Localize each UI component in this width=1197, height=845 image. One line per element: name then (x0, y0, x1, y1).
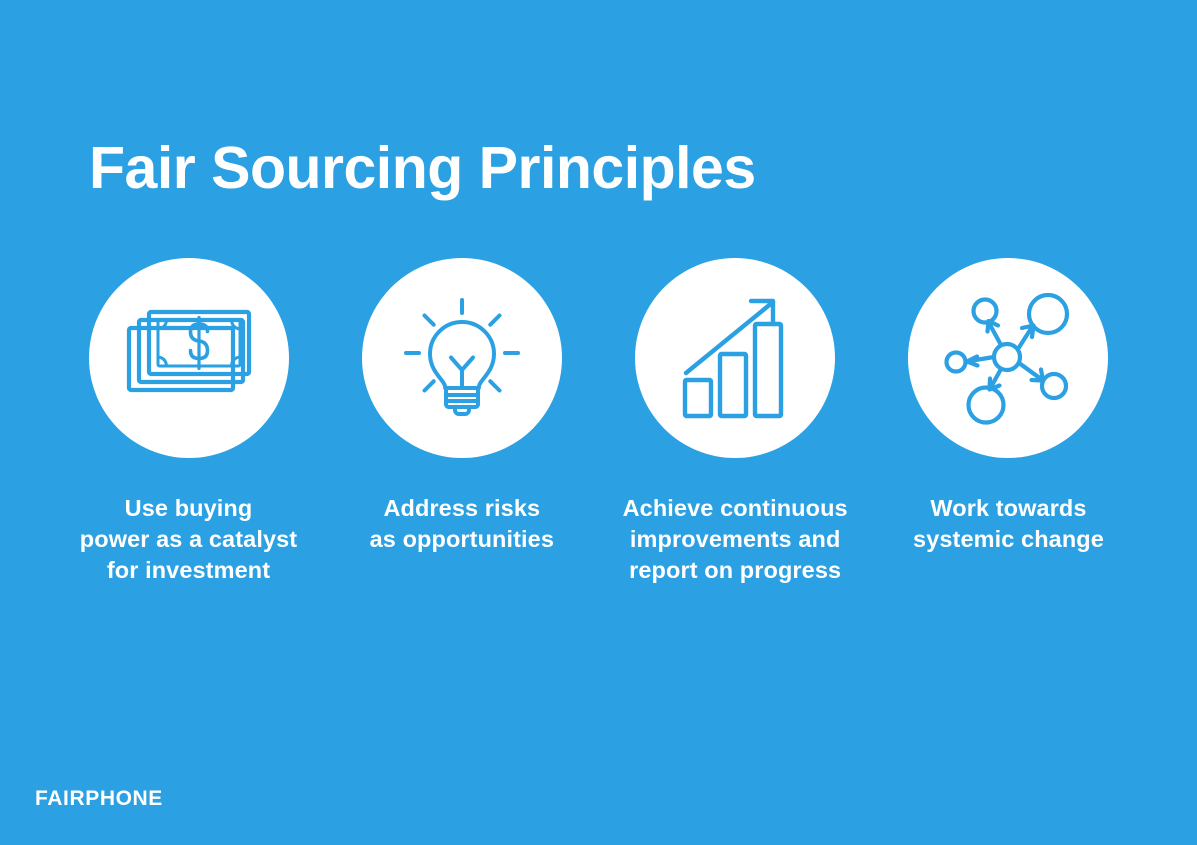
caption-line: Achieve continuous (623, 493, 848, 524)
caption-line: as opportunities (370, 524, 554, 555)
principle-caption-buying-power: Use buying power as a catalyst for inves… (80, 493, 297, 586)
principle-caption-continuous-improvement: Achieve continuous improvements and repo… (623, 493, 848, 586)
icon-circle-continuous-improvement (635, 258, 835, 458)
caption-line: Work towards (913, 493, 1104, 524)
icon-circle-address-risks (362, 258, 562, 458)
caption-line: power as a catalyst (80, 524, 297, 555)
caption-line: Address risks (370, 493, 554, 524)
brand-logo-fairphone: FAIRPHONE (35, 787, 163, 811)
caption-line: for investment (80, 555, 297, 586)
network-nodes-icon (944, 291, 1072, 425)
principle-item-continuous-improvement: Achieve continuous improvements and repo… (599, 258, 872, 586)
slide-canvas: Fair Sourcing Principles (0, 0, 1197, 845)
principles-row: Use buying power as a catalyst for inves… (52, 258, 1145, 586)
caption-line: Use buying (80, 493, 297, 524)
icon-circle-buying-power (89, 258, 289, 458)
caption-line: systemic change (913, 524, 1104, 555)
principle-caption-systemic-change: Work towards systemic change (913, 493, 1104, 555)
growth-bar-chart-icon (681, 296, 789, 420)
icon-circle-systemic-change (908, 258, 1108, 458)
money-banknotes-icon (125, 302, 253, 414)
principle-item-systemic-change: Work towards systemic change (872, 258, 1145, 555)
page-title: Fair Sourcing Principles (89, 139, 756, 198)
lightbulb-icon (400, 296, 524, 420)
caption-line: improvements and (623, 524, 848, 555)
principle-caption-address-risks: Address risks as opportunities (370, 493, 554, 555)
principle-item-address-risks: Address risks as opportunities (325, 258, 598, 555)
principle-item-buying-power: Use buying power as a catalyst for inves… (52, 258, 325, 586)
caption-line: report on progress (623, 555, 848, 586)
